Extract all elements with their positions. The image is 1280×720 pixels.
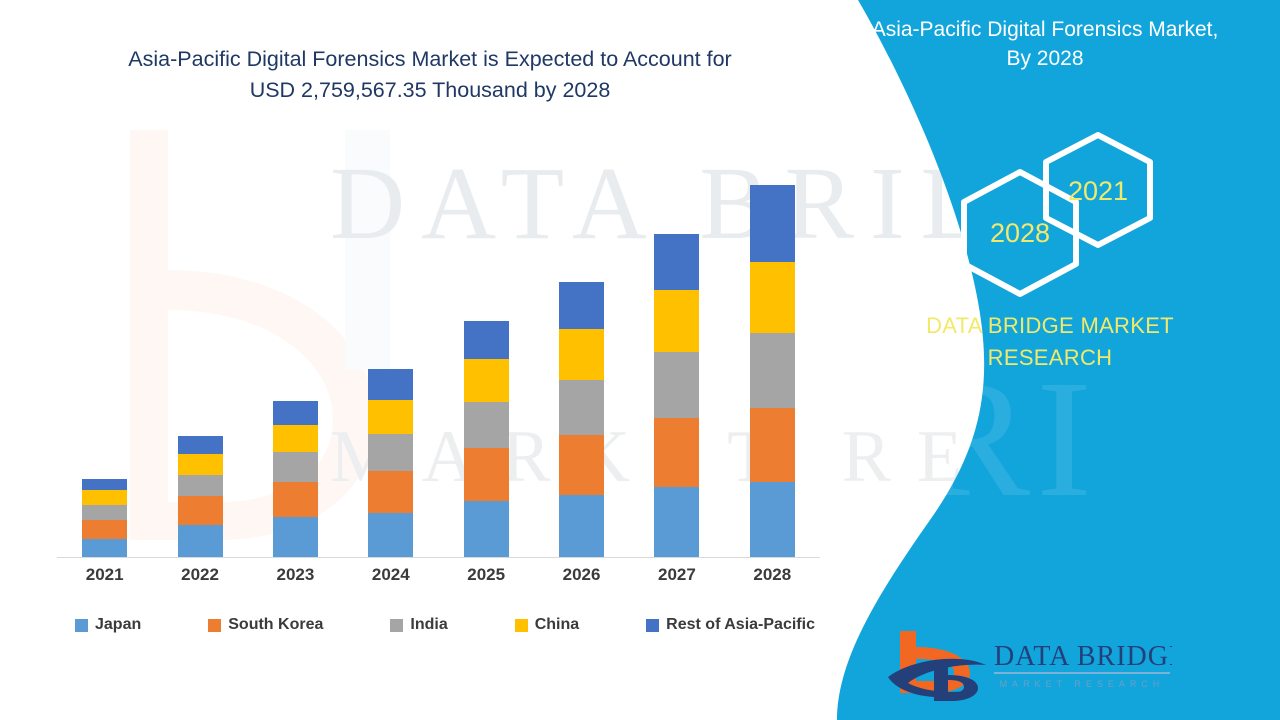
- stacked-bar-2025[interactable]: [464, 321, 509, 558]
- bar-segment-china[interactable]: [368, 400, 413, 434]
- chart-plot-area: [0, 140, 830, 560]
- legend-label: Japan: [95, 616, 141, 634]
- x-axis-label-2027: 2027: [629, 565, 724, 585]
- infographic-canvas: DATA BRIDGE MARKET RESEARCH Asia-Pacific…: [0, 0, 1280, 720]
- legend-swatch-icon: [75, 619, 88, 632]
- bar-slot: [343, 140, 438, 558]
- legend-item-japan[interactable]: Japan: [75, 616, 141, 634]
- bar-segment-rest-of-asia-pacific[interactable]: [368, 369, 413, 400]
- legend-swatch-icon: [646, 619, 659, 632]
- bar-segment-japan[interactable]: [654, 487, 699, 558]
- legend-swatch-icon: [390, 619, 403, 632]
- bar-segment-japan[interactable]: [273, 517, 318, 558]
- bar-segment-south-korea[interactable]: [368, 471, 413, 513]
- stacked-bar-2021[interactable]: [82, 479, 127, 558]
- stacked-bar-2026[interactable]: [559, 282, 604, 558]
- bar-segment-india[interactable]: [559, 380, 604, 435]
- logo-tagline: MARKET RESEARCH: [1000, 679, 1165, 689]
- stacked-bar-2027[interactable]: [654, 234, 699, 558]
- bar-segment-south-korea[interactable]: [273, 482, 318, 517]
- x-axis-label-2021: 2021: [57, 565, 152, 585]
- x-axis-labels: 20212022202320242025202620272028: [57, 565, 820, 585]
- legend-label: India: [410, 616, 447, 634]
- chart-title: Asia-Pacific Digital Forensics Market is…: [40, 44, 820, 105]
- bar-segment-south-korea[interactable]: [464, 448, 509, 501]
- bar-segment-japan[interactable]: [368, 513, 413, 558]
- bar-segment-japan[interactable]: [750, 482, 795, 558]
- legend-swatch-icon: [208, 619, 221, 632]
- bar-segment-india[interactable]: [82, 505, 127, 520]
- x-axis-label-2023: 2023: [248, 565, 343, 585]
- bar-segment-japan[interactable]: [82, 539, 127, 558]
- stacked-bar-2022[interactable]: [178, 436, 223, 558]
- bar-segment-japan[interactable]: [464, 501, 509, 558]
- hexagon-badges: 2028 2021: [820, 130, 1260, 300]
- bar-segment-south-korea[interactable]: [559, 435, 604, 495]
- bar-segment-rest-of-asia-pacific[interactable]: [82, 479, 127, 490]
- panel-title-line-2: By 2028: [830, 45, 1260, 74]
- panel-title-line-1: Asia-Pacific Digital Forensics Market,: [830, 16, 1260, 45]
- bar-segment-india[interactable]: [750, 333, 795, 408]
- x-axis-label-2025: 2025: [439, 565, 534, 585]
- bar-segment-india[interactable]: [178, 475, 223, 496]
- brand-name: DATA BRIDGE MARKET RESEARCH: [840, 310, 1260, 374]
- chart-legend: JapanSouth KoreaIndiaChinaRest of Asia-P…: [75, 616, 815, 634]
- bar-segment-south-korea[interactable]: [178, 496, 223, 525]
- panel-watermark-text: BRI: [800, 355, 1098, 523]
- stacked-bar-2028[interactable]: [750, 185, 795, 558]
- panel-title: Asia-Pacific Digital Forensics Market, B…: [830, 16, 1260, 74]
- bar-segment-china[interactable]: [464, 359, 509, 402]
- legend-item-south-korea[interactable]: South Korea: [208, 616, 323, 634]
- bar-group: [57, 140, 820, 558]
- bar-segment-rest-of-asia-pacific[interactable]: [559, 282, 604, 329]
- bar-segment-china[interactable]: [178, 454, 223, 475]
- bar-segment-china[interactable]: [273, 425, 318, 452]
- legend-swatch-icon: [515, 619, 528, 632]
- x-axis-line: [57, 557, 820, 558]
- bar-segment-rest-of-asia-pacific[interactable]: [654, 234, 699, 290]
- x-axis-label-2022: 2022: [152, 565, 247, 585]
- legend-label: China: [535, 616, 579, 634]
- bar-segment-india[interactable]: [273, 452, 318, 482]
- legend-item-china[interactable]: China: [515, 616, 579, 634]
- stacked-bar-2024[interactable]: [368, 369, 413, 558]
- hexagon-2028-label: 2028: [990, 218, 1050, 248]
- bar-segment-rest-of-asia-pacific[interactable]: [273, 401, 318, 425]
- bar-segment-south-korea[interactable]: [750, 408, 795, 482]
- bar-segment-rest-of-asia-pacific[interactable]: [178, 436, 223, 454]
- x-axis-label-2026: 2026: [534, 565, 629, 585]
- x-axis-label-2024: 2024: [343, 565, 438, 585]
- bar-slot: [629, 140, 724, 558]
- chart-title-line-1: Asia-Pacific Digital Forensics Market is…: [40, 44, 820, 75]
- logo-b-stem-navy: [934, 667, 948, 701]
- legend-label: Rest of Asia-Pacific: [666, 616, 815, 634]
- legend-label: South Korea: [228, 616, 323, 634]
- bar-segment-south-korea[interactable]: [82, 520, 127, 539]
- bar-segment-south-korea[interactable]: [654, 418, 699, 487]
- brand-line-1: DATA BRIDGE MARKET: [840, 310, 1260, 342]
- legend-item-india[interactable]: India: [390, 616, 447, 634]
- bar-segment-rest-of-asia-pacific[interactable]: [750, 185, 795, 262]
- bar-segment-rest-of-asia-pacific[interactable]: [464, 321, 509, 359]
- bar-segment-japan[interactable]: [178, 525, 223, 558]
- bar-segment-china[interactable]: [559, 329, 604, 380]
- brand-line-2: RESEARCH: [840, 342, 1260, 374]
- bar-slot: [534, 140, 629, 558]
- bar-slot: [152, 140, 247, 558]
- bar-slot: [248, 140, 343, 558]
- bar-segment-china[interactable]: [82, 490, 127, 505]
- bar-segment-india[interactable]: [368, 434, 413, 471]
- bar-segment-china[interactable]: [654, 290, 699, 352]
- legend-item-rest-of-asia-pacific[interactable]: Rest of Asia-Pacific: [646, 616, 815, 634]
- bar-segment-japan[interactable]: [559, 495, 604, 558]
- bar-slot: [57, 140, 152, 558]
- chart-title-line-2: USD 2,759,567.35 Thousand by 2028: [40, 75, 820, 106]
- logo-wordmark: DATA BRIDGE: [994, 641, 1172, 672]
- hexagon-2021-label: 2021: [1068, 176, 1128, 206]
- bar-segment-india[interactable]: [464, 402, 509, 448]
- right-panel-content: BRI Asia-Pacific Digital Forensics Marke…: [800, 0, 1280, 720]
- bar-slot: [439, 140, 534, 558]
- bar-segment-china[interactable]: [750, 262, 795, 333]
- data-bridge-logo: DATA BRIDGE MARKET RESEARCH: [882, 625, 1172, 705]
- stacked-bar-2023[interactable]: [273, 401, 318, 558]
- bar-segment-india[interactable]: [654, 352, 699, 418]
